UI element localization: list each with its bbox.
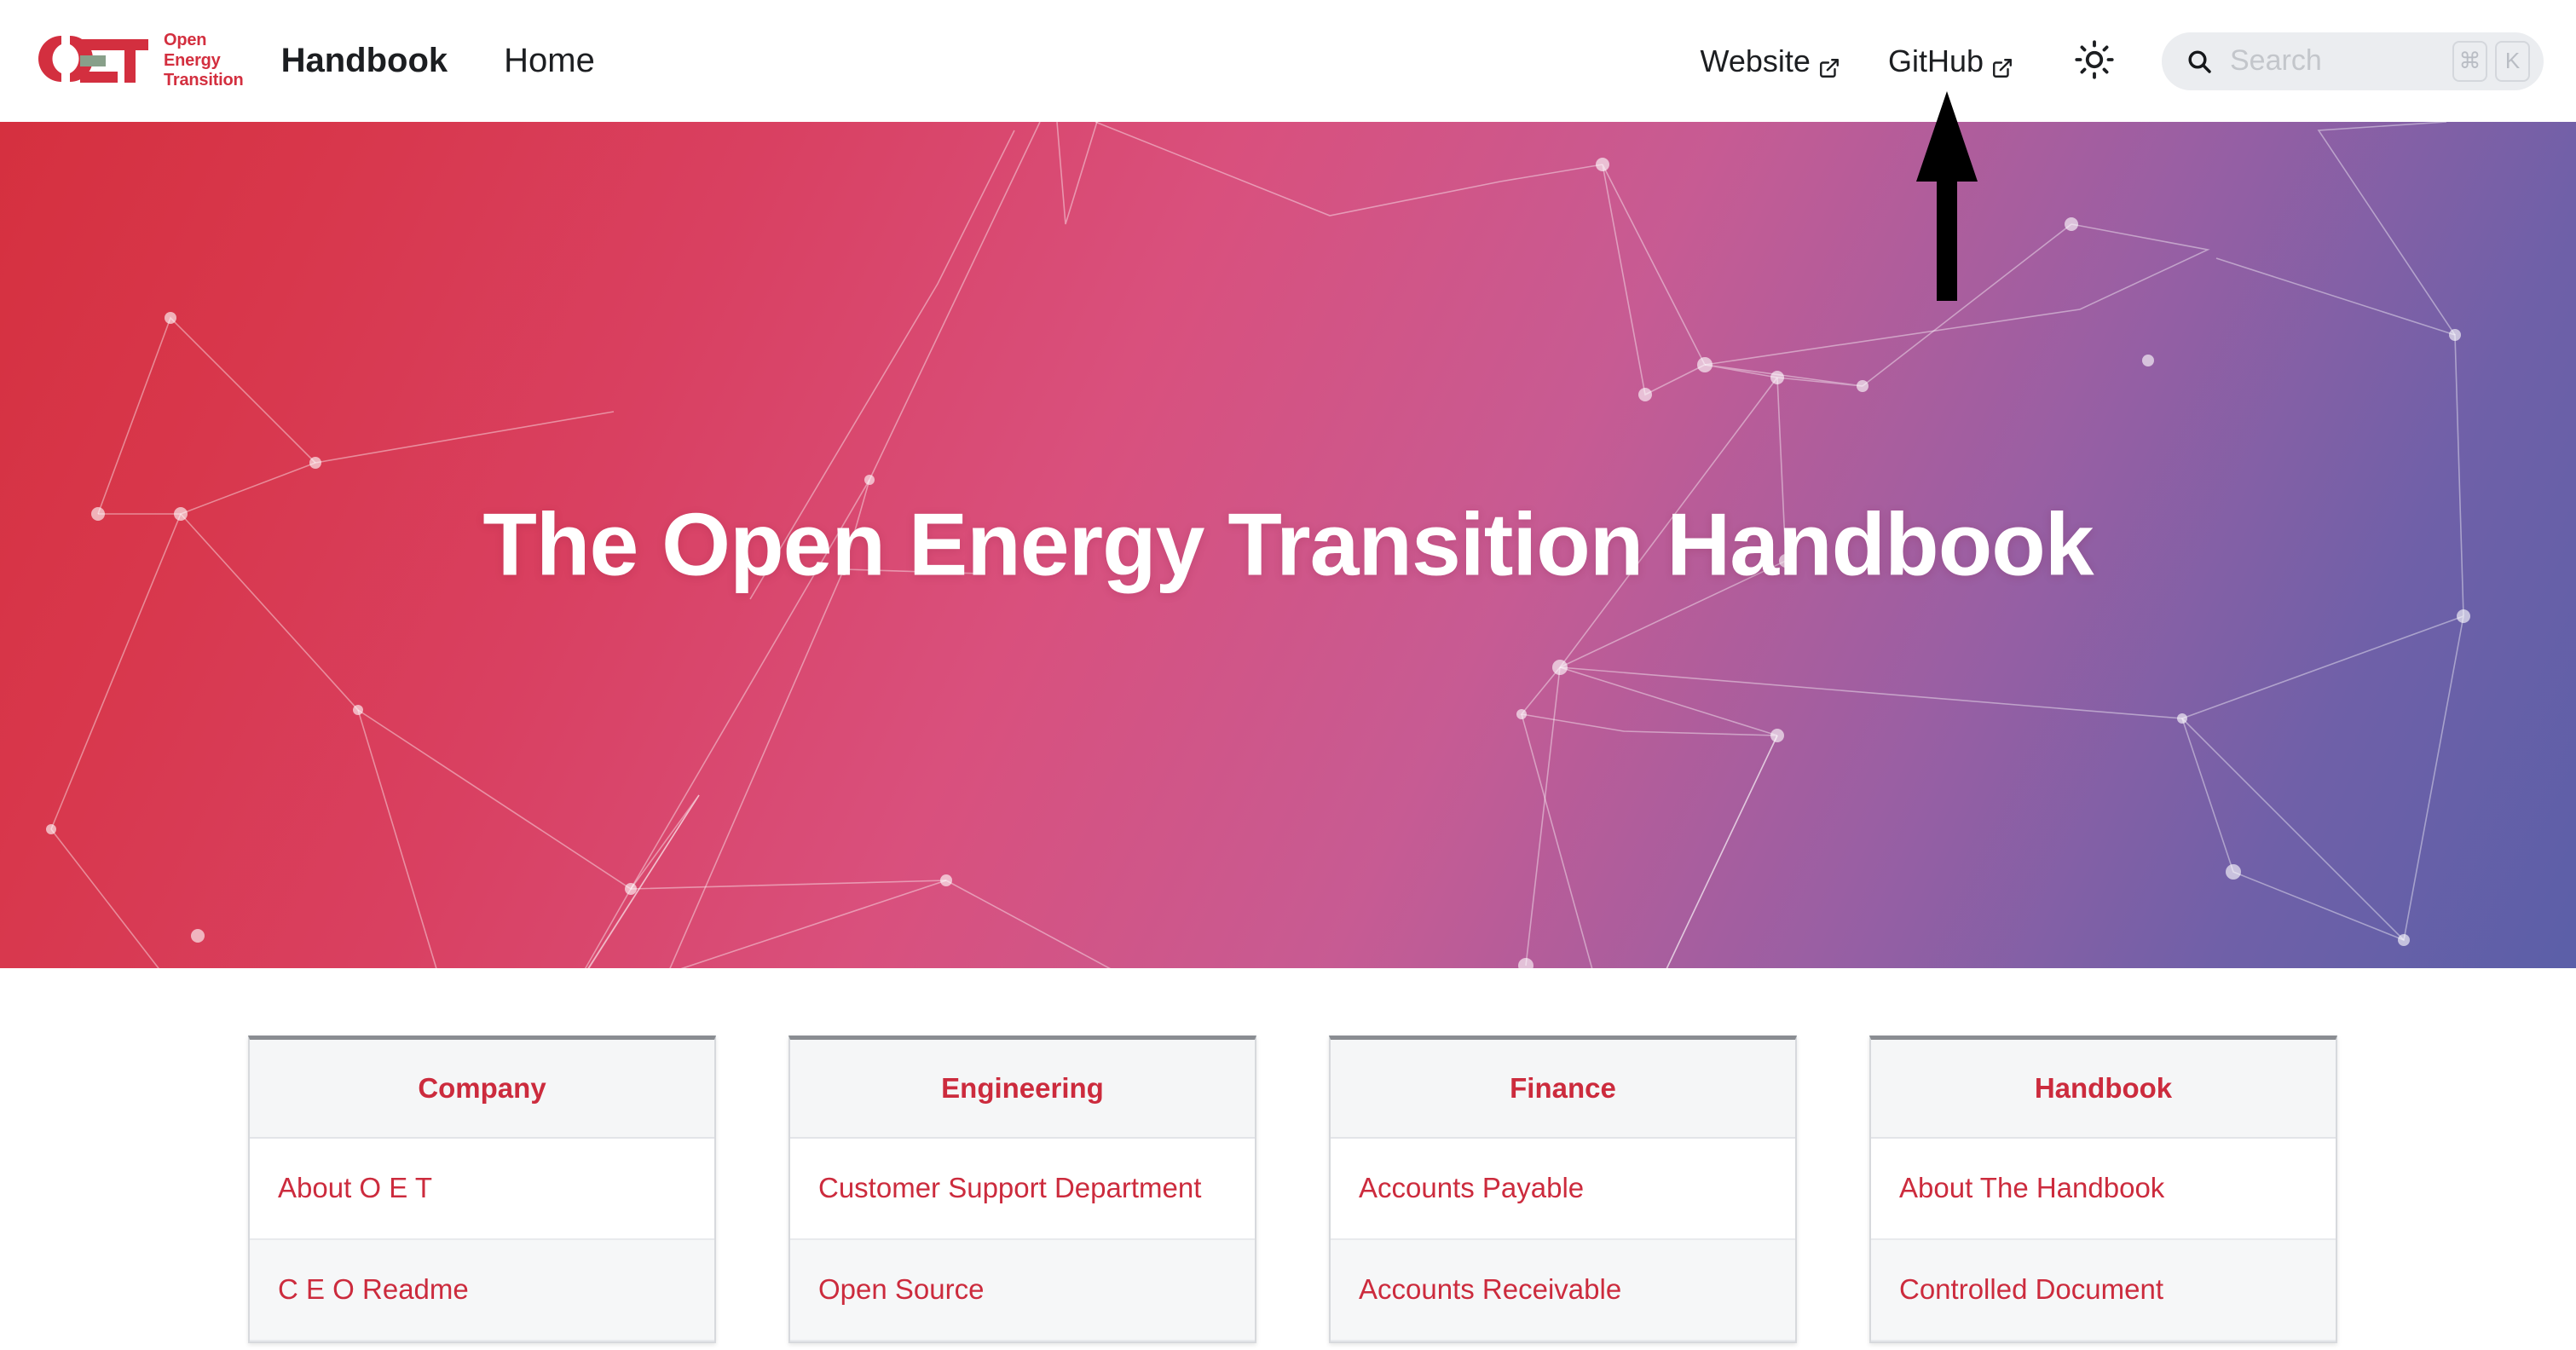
- logo-line-transition: Transition: [164, 71, 244, 91]
- oet-logo-icon: [36, 32, 152, 89]
- card-link[interactable]: Customer Support Department: [818, 1169, 1201, 1208]
- card-header: Company: [250, 1040, 714, 1139]
- kbd-modifier: ⌘: [2452, 41, 2487, 82]
- card-engineering: Engineering Customer Support Department …: [788, 1036, 1256, 1343]
- card-title: Handbook: [2035, 1072, 2172, 1104]
- list-item[interactable]: Controlled Document: [1871, 1240, 2336, 1341]
- card-link[interactable]: About The Handbook: [1899, 1169, 2164, 1208]
- card-link[interactable]: Accounts Receivable: [1359, 1271, 1621, 1309]
- page-title: The Open Energy Transition Handbook: [0, 494, 2576, 596]
- external-link-icon: [1818, 51, 1840, 73]
- brand-logo-link[interactable]: Open Energy Transition: [36, 31, 244, 91]
- list-item[interactable]: Open Source: [790, 1240, 1255, 1341]
- sun-icon: [2075, 40, 2114, 82]
- nav-item-home[interactable]: Home: [504, 42, 595, 80]
- card-header: Finance: [1331, 1040, 1795, 1139]
- site-title: Handbook: [281, 42, 448, 80]
- nav-item-website-label: Website: [1701, 43, 1811, 79]
- card-finance: Finance Accounts Payable Accounts Receiv…: [1329, 1036, 1797, 1343]
- card-handbook: Handbook About The Handbook Controlled D…: [1869, 1036, 2337, 1343]
- site-header: Open Energy Transition Handbook Home Web…: [0, 0, 2576, 122]
- card-link[interactable]: About O E T: [278, 1169, 432, 1208]
- nav-item-github-label: GitHub: [1888, 43, 1984, 79]
- card-title: Company: [418, 1072, 546, 1104]
- theme-toggle-button[interactable]: [2061, 28, 2128, 95]
- list-item[interactable]: Accounts Receivable: [1331, 1240, 1795, 1341]
- search-input[interactable]: Search: [2213, 44, 2452, 78]
- brand-wordmark: Open Energy Transition: [164, 31, 244, 91]
- card-link[interactable]: Open Source: [818, 1271, 984, 1309]
- card-header: Handbook: [1871, 1040, 2336, 1139]
- search-shortcut-hint: ⌘ K: [2452, 41, 2530, 82]
- external-link-icon: [1991, 51, 2013, 73]
- list-item[interactable]: About O E T: [250, 1139, 714, 1240]
- card-title: Finance: [1510, 1072, 1616, 1104]
- card-header: Engineering: [790, 1040, 1255, 1139]
- hero-banner: The Open Energy Transition Handbook: [0, 122, 2576, 968]
- nav-item-website[interactable]: Website: [1701, 43, 1840, 79]
- kbd-key: K: [2495, 41, 2530, 82]
- header-left-group: Open Energy Transition Handbook Home: [0, 31, 595, 91]
- logo-line-energy: Energy: [164, 51, 244, 72]
- list-item[interactable]: Customer Support Department: [790, 1139, 1255, 1240]
- nav-item-github[interactable]: GitHub: [1888, 43, 2013, 79]
- logo-line-open: Open: [164, 31, 244, 51]
- list-item[interactable]: C E O Readme: [250, 1240, 714, 1341]
- list-item[interactable]: Accounts Payable: [1331, 1139, 1795, 1240]
- card-link[interactable]: Controlled Document: [1899, 1271, 2163, 1309]
- category-cards-row: Company About O E T C E O Readme Enginee…: [248, 1036, 2337, 1343]
- card-link[interactable]: Accounts Payable: [1359, 1169, 1584, 1208]
- card-title: Engineering: [941, 1072, 1104, 1104]
- search-icon: [2186, 48, 2213, 75]
- header-right-group: Website GitHub: [1701, 28, 2576, 95]
- search-bar[interactable]: Search ⌘ K: [2162, 32, 2544, 90]
- category-cards-section: Company About O E T C E O Readme Enginee…: [0, 968, 2576, 1350]
- list-item[interactable]: About The Handbook: [1871, 1139, 2336, 1240]
- card-company: Company About O E T C E O Readme: [248, 1036, 716, 1343]
- card-link[interactable]: C E O Readme: [278, 1271, 469, 1309]
